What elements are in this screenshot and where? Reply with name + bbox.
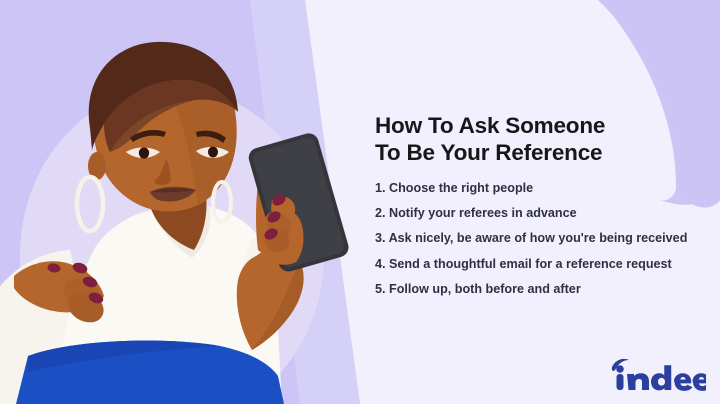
steps-list: 1. Choose the right people 2. Notify you…	[375, 176, 715, 302]
earring-left	[77, 177, 103, 231]
list-item-number: 3.	[375, 231, 386, 245]
logo-e-2	[693, 373, 707, 391]
slide-canvas: How To Ask Someone To Be Your Reference …	[0, 0, 720, 404]
list-item-number: 1.	[375, 181, 386, 195]
eye-left-pupil	[139, 147, 149, 158]
logo-d-1	[651, 365, 671, 390]
list-item: 5. Follow up, both before and after	[375, 277, 715, 302]
logo-i-dot	[616, 365, 624, 373]
list-item-label: Choose the right people	[389, 181, 533, 195]
list-item-label: Notify your referees in advance	[389, 206, 577, 220]
list-item: 1. Choose the right people	[375, 176, 715, 201]
indeed-wordmark-icon	[610, 356, 706, 392]
eye-right-pupil	[208, 147, 218, 158]
list-item-label: Ask nicely, be aware of how you're being…	[389, 231, 688, 245]
logo-e-1	[674, 373, 692, 391]
list-item-label: Send a thoughtful email for a reference …	[389, 257, 672, 271]
list-item-label: Follow up, both before and after	[389, 282, 581, 296]
person-illustration	[0, 0, 380, 404]
indeed-logo	[610, 356, 706, 392]
list-item: 2. Notify your referees in advance	[375, 201, 715, 226]
list-item-number: 4.	[375, 257, 386, 271]
logo-i-stem	[617, 374, 624, 390]
list-item: 4. Send a thoughtful email for a referen…	[375, 252, 715, 277]
list-item: 3. Ask nicely, be aware of how you're be…	[375, 226, 715, 251]
logo-n	[627, 373, 649, 390]
list-item-number: 5.	[375, 282, 386, 296]
list-item-number: 2.	[375, 206, 386, 220]
page-title: How To Ask Someone To Be Your Reference	[375, 112, 710, 166]
content-column: How To Ask Someone To Be Your Reference …	[375, 0, 710, 404]
